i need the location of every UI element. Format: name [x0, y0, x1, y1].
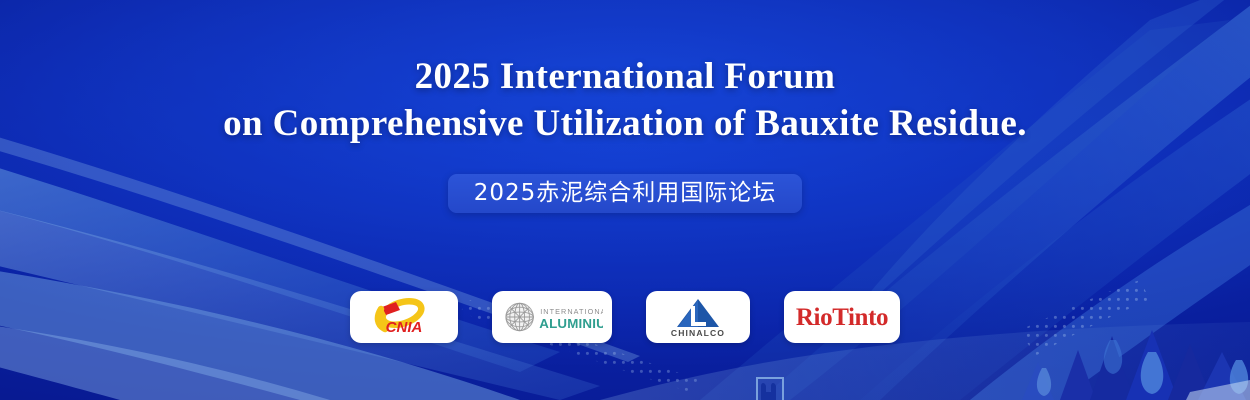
ial-line1: INTERNATIONAL — [540, 307, 603, 316]
chinalco-logo-icon: CHINALCO — [661, 296, 735, 338]
banner-title: 2025 International Forum on Comprehensiv… — [223, 54, 1027, 147]
riotinto-wordmark: RioTinto — [796, 305, 888, 330]
globe-icon — [506, 303, 533, 330]
international-aluminium-logo-icon: INTERNATIONAL ALUMINIUM — [501, 298, 603, 336]
title-line-1: 2025 International Forum — [223, 54, 1027, 100]
logo-card-cnia[interactable]: CNIA — [350, 291, 458, 343]
sponsor-logo-row: CNIA — [350, 291, 900, 343]
chinalco-wordmark: CHINALCO — [671, 328, 725, 338]
cnia-wordmark: CNIA — [386, 319, 423, 336]
logo-card-international-aluminium[interactable]: INTERNATIONAL ALUMINIUM — [492, 291, 612, 343]
logo-card-riotinto[interactable]: RioTinto — [784, 291, 900, 343]
title-line-2: on Comprehensive Utilization of Bauxite … — [223, 100, 1027, 147]
cnia-logo-icon: CNIA — [360, 297, 448, 337]
subtitle-pill: 2025赤泥综合利用国际论坛 — [448, 174, 803, 213]
subtitle-chinese: 2025赤泥综合利用国际论坛 — [474, 182, 777, 205]
ial-line2: ALUMINIUM — [539, 316, 603, 331]
logo-card-chinalco[interactable]: CHINALCO — [646, 291, 750, 343]
event-banner: 2025 International Forum on Comprehensiv… — [0, 0, 1250, 400]
